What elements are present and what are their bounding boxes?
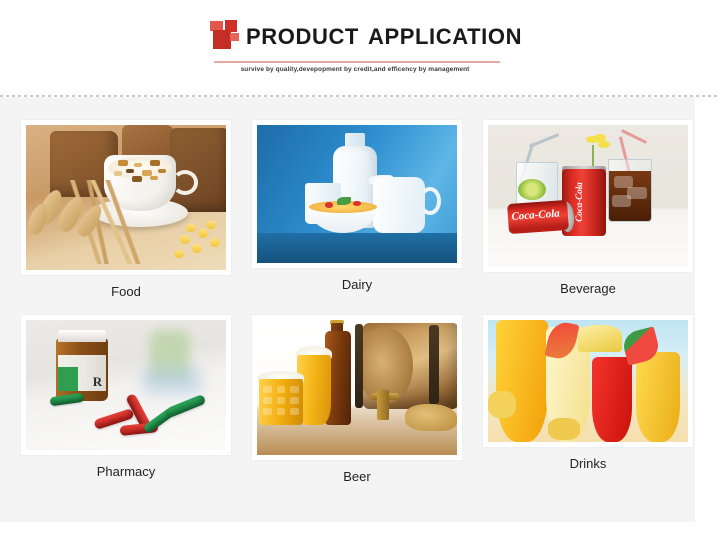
product-card-food[interactable]: [21, 120, 231, 275]
product-card-drinks[interactable]: [483, 315, 693, 447]
logo-square-3: [213, 30, 231, 49]
grid-cell-food: Food: [21, 120, 231, 300]
product-image-beverage: Coca-Cola Coca-Cola: [488, 125, 688, 267]
grid-cell-dairy: Dairy: [252, 120, 462, 300]
grid-cell-beverage: Coca-Cola Coca-Cola Beverage: [483, 120, 693, 300]
page-subtitle: survive by quality,devepopment by credit…: [210, 66, 500, 73]
product-card-beer[interactable]: [252, 315, 462, 460]
product-image-pharmacy: R: [26, 320, 226, 450]
product-image-beer: [257, 320, 457, 455]
product-image-food: [26, 125, 226, 270]
product-grid: Food: [0, 97, 695, 522]
panel-right-margin: [695, 97, 720, 542]
grid-cell-pharmacy: R Pharmacy: [21, 315, 231, 495]
grid-cell-beer: Beer: [252, 315, 462, 495]
title-underline-rule: [214, 61, 500, 63]
logo-block: PRODUCTAPPLICATION survive by quality,de…: [210, 14, 500, 50]
product-image-dairy: [257, 125, 457, 263]
panel-bottom-margin: [0, 522, 720, 542]
red-squares-logo-icon: [210, 20, 240, 50]
product-card-beverage[interactable]: Coca-Cola Coca-Cola: [483, 120, 693, 272]
product-application-page: PRODUCTAPPLICATION survive by quality,de…: [0, 0, 720, 542]
grid-cell-drinks: Drinks: [483, 315, 693, 495]
logo-square-4: [230, 33, 239, 41]
product-label-beverage: Beverage: [483, 281, 693, 296]
product-label-beer: Beer: [252, 469, 462, 484]
page-title-part1: PRODUCT: [246, 24, 359, 49]
page-title-part2: APPLICATION: [368, 24, 522, 49]
product-image-drinks: [488, 320, 688, 442]
title-row: PRODUCTAPPLICATION: [210, 14, 500, 50]
product-label-dairy: Dairy: [252, 277, 462, 292]
page-title: PRODUCTAPPLICATION: [246, 24, 522, 50]
product-label-pharmacy: Pharmacy: [21, 464, 231, 479]
product-label-food: Food: [21, 284, 231, 299]
product-label-drinks: Drinks: [483, 456, 693, 471]
cola-brand-text-upright: Coca-Cola: [574, 182, 584, 222]
cola-brand-text-lying: Coca-Cola: [511, 207, 560, 222]
rx-label-text: R: [93, 374, 102, 390]
page-header: PRODUCTAPPLICATION survive by quality,de…: [0, 0, 720, 96]
product-card-pharmacy[interactable]: R: [21, 315, 231, 455]
product-card-dairy[interactable]: [252, 120, 462, 268]
